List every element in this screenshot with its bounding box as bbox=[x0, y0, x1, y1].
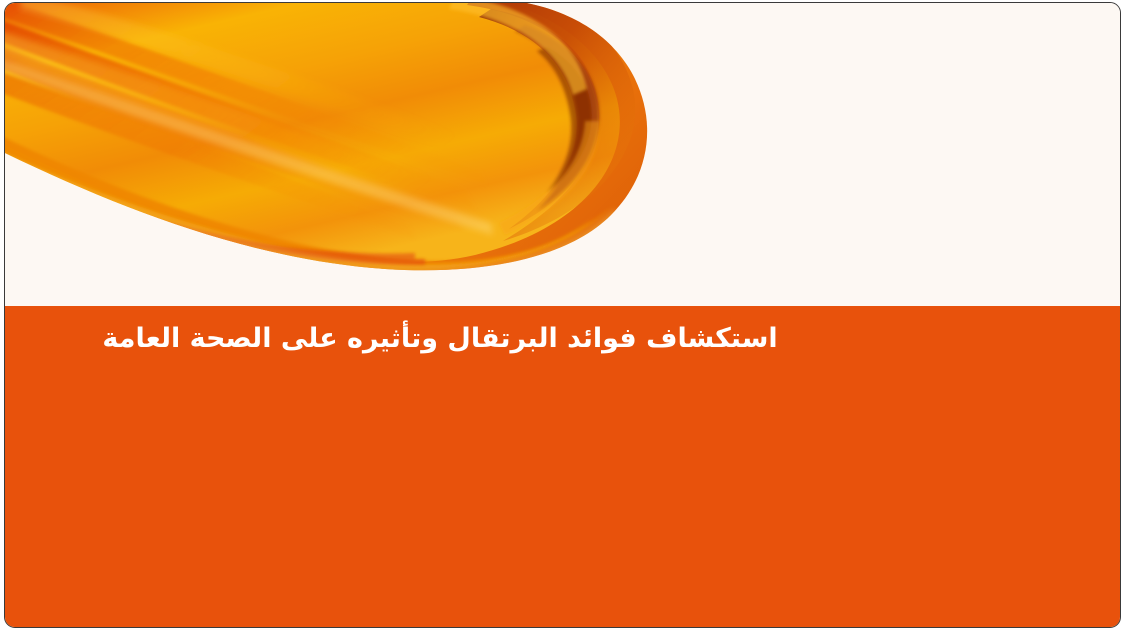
page-title: استكشاف فوائد البرتقال وتأثيره على الصحة… bbox=[102, 322, 777, 356]
slide-header-area bbox=[5, 3, 1120, 306]
slide-canvas: استكشاف فوائد البرتقال وتأثيره على الصحة… bbox=[4, 2, 1121, 628]
slide-title-band: استكشاف فوائد البرتقال وتأثيره على الصحة… bbox=[5, 306, 1120, 628]
orange-ribbon-swirl-icon bbox=[5, 3, 705, 306]
title-placeholder[interactable]: استكشاف فوائد البرتقال وتأثيره على الصحة… bbox=[5, 306, 875, 372]
